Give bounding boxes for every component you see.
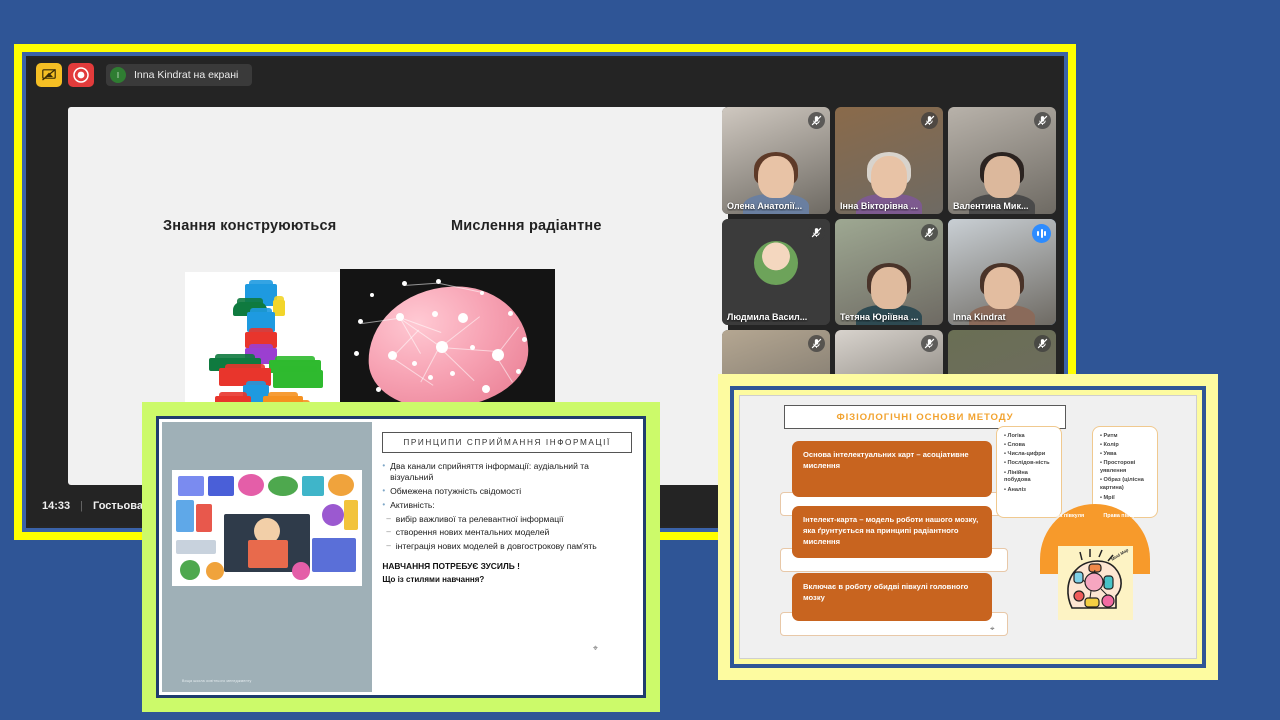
dash-marker-icon: – — [386, 541, 390, 551]
perception-callout-question: Що із стилями навчання? — [382, 575, 632, 584]
mind-map-head-icon: Mind Map — [1058, 546, 1133, 620]
presenter-avatar: I — [110, 67, 126, 83]
record-glyph — [73, 67, 89, 83]
perception-bullet-text: вибір важливої та релевантної інформації — [396, 514, 564, 524]
perception-slide-footer: Вища школа освітнього менеджменту — [182, 679, 252, 683]
perception-slide-inner-frame: Вища школа освітнього менеджменту ПРИНЦИ… — [156, 416, 646, 698]
microphone-muted-icon[interactable] — [808, 112, 825, 129]
screen-share-off-icon[interactable] — [36, 63, 62, 87]
screen-share-off-glyph — [42, 69, 56, 81]
participant-face — [758, 156, 794, 198]
right-hemisphere-item: Ритм — [1100, 433, 1151, 441]
right-hemisphere-label: Права півкуля — [1095, 513, 1150, 521]
right-hemisphere-item: Колір — [1100, 442, 1151, 450]
participant-name: Валентина Мик... — [953, 201, 1051, 211]
participant-name: Людмила Васил... — [727, 312, 825, 322]
perception-slide-title-box: ПРИНЦИПИ СПРИЙМАННЯ ІНФОРМАЦІЇ — [382, 432, 632, 453]
left-hemisphere-item: Логіка — [1004, 433, 1055, 441]
physiology-box-2: Інтелект-карта – модель роботи нашого мо… — [792, 506, 992, 558]
participant-tile[interactable]: Валентина Мик... — [948, 107, 1056, 214]
speaking-indicator-icon — [1032, 224, 1051, 243]
education-collage-photo — [172, 470, 362, 586]
participant-tile[interactable]: Inna Kindrat — [948, 219, 1056, 326]
right-hemisphere-item: Образ (цілісна картина) — [1100, 477, 1151, 493]
perception-bullet-item: •Обмежена потужність свідомості — [382, 486, 632, 496]
participant-name: Тетяна Юріївна ... — [840, 312, 938, 322]
perception-bullet-text: Активність: — [390, 500, 435, 510]
right-hemisphere-item: Уява — [1100, 451, 1151, 459]
right-hemisphere-item: Просторові уявлення — [1100, 460, 1151, 476]
participant-name: Інна Вікторівна ... — [840, 201, 938, 211]
participant-name: Inna Kindrat — [953, 312, 1051, 322]
dash-marker-icon: – — [386, 527, 390, 537]
physiology-slide: ФІЗІОЛОГІЧНІ ОСНОВИ МЕТОДУ Основа інтеле… — [739, 395, 1197, 659]
perception-bullet-item: •Два канали сприйняття інформації: аудіа… — [382, 461, 632, 482]
right-hemisphere-item: Мрії — [1100, 495, 1151, 503]
dash-marker-icon: – — [386, 514, 390, 524]
perception-slide: Вища школа освітнього менеджменту ПРИНЦИ… — [162, 422, 640, 692]
microphone-muted-icon[interactable] — [1034, 112, 1051, 129]
left-hemisphere-item: Слова — [1004, 442, 1055, 450]
microphone-muted-icon[interactable] — [921, 112, 938, 129]
perception-bullet-text: створення нових ментальних моделей — [396, 527, 550, 537]
participant-tile[interactable]: Людмила Васил... — [722, 219, 830, 326]
perception-callout-bold: НАВЧАННЯ ПОТРЕБУЄ ЗУСИЛЬ ! — [382, 561, 632, 571]
mouse-cursor-icon: ⌖ — [593, 643, 598, 654]
participant-tile[interactable]: Тетяна Юріївна ... — [835, 219, 943, 326]
mind-map-head-glyph — [1058, 546, 1133, 620]
right-hemisphere-list: РитмКолірУяваПросторові уявленняОбраз (ц… — [1100, 433, 1151, 502]
slide-title-knowledge: Знання конструюються — [163, 218, 336, 234]
left-hemisphere-list: ЛогікаСловаЧисла-цифриПослідов-ністьЛіні… — [1004, 433, 1055, 495]
avatar — [754, 241, 798, 285]
presenter-label: Inna Kindrat на екрані — [134, 69, 238, 81]
physiology-slide-inner-frame: ФІЗІОЛОГІЧНІ ОСНОВИ МЕТОДУ Основа інтеле… — [730, 386, 1206, 668]
left-hemisphere-item: Послідов-ність — [1004, 460, 1055, 468]
screenshot-canvas: I Inna Kindrat на екрані Знання конструю… — [0, 0, 1280, 720]
left-hemisphere-item: Лінійна побудова — [1004, 470, 1055, 486]
perception-bullet-item: –створення нових ментальних моделей — [382, 527, 632, 537]
meeting-clock: 14:33 — [42, 500, 70, 512]
physiology-box-1: Основа інтелектуальних карт – асоціативн… — [792, 441, 992, 497]
perception-bullet-text: Два канали сприйняття інформації: аудіал… — [390, 461, 632, 482]
physiology-slide-frame: ФІЗІОЛОГІЧНІ ОСНОВИ МЕТОДУ Основа інтеле… — [718, 374, 1218, 680]
participant-tile[interactable]: Олена Анатолії... — [722, 107, 830, 214]
bullet-marker-icon: • — [382, 500, 385, 510]
left-hemisphere-item: Аналіз — [1004, 487, 1055, 495]
perception-slide-right: ПРИНЦИПИ СПРИЙМАННЯ ІНФОРМАЦІЇ •Два кана… — [372, 422, 640, 692]
participant-face — [871, 267, 907, 309]
perception-bullet-item: •Активність: — [382, 500, 632, 510]
physiology-slide-title: ФІЗІОЛОГІЧНІ ОСНОВИ МЕТОДУ — [837, 412, 1014, 423]
presenter-chip[interactable]: I Inna Kindrat на екрані — [106, 64, 252, 86]
left-hemisphere-label: Ліва півкуля — [1040, 513, 1095, 521]
perception-bullet-item: –інтеграція нових моделей в довгостроков… — [382, 541, 632, 551]
perception-bullet-item: –вибір важливої та релевантної інформаці… — [382, 514, 632, 524]
microphone-muted-icon[interactable] — [921, 224, 938, 241]
bullet-marker-icon: • — [382, 461, 385, 482]
perception-bullet-text: інтеграція нових моделей в довгострокову… — [396, 541, 597, 551]
perception-slide-frame: Вища школа освітнього менеджменту ПРИНЦИ… — [142, 402, 660, 712]
microphone-muted-icon[interactable] — [808, 224, 825, 241]
left-hemisphere-item: Числа-цифри — [1004, 451, 1055, 459]
perception-slide-left: Вища школа освітнього менеджменту — [162, 422, 372, 692]
perception-slide-title: ПРИНЦИПИ СПРИЙМАННЯ ІНФОРМАЦІЇ — [389, 437, 625, 448]
mouse-cursor-icon: ⌖ — [990, 624, 995, 634]
participant-tile[interactable]: Інна Вікторівна ... — [835, 107, 943, 214]
participant-face — [984, 267, 1020, 309]
record-icon[interactable] — [68, 63, 94, 87]
meeting-top-toolbar: I Inna Kindrat на екрані — [28, 58, 1062, 92]
physiology-box-3: Включає в роботу обидві півкулі головног… — [792, 573, 992, 621]
bullet-marker-icon: • — [382, 486, 385, 496]
toolbar-divider: | — [80, 500, 83, 512]
perception-bullet-text: Обмежена потужність свідомості — [390, 486, 521, 496]
participant-name: Олена Анатолії... — [727, 201, 825, 211]
perception-bullet-list: •Два канали сприйняття інформації: аудіа… — [382, 461, 632, 552]
slide-title-radiant: Мислення радіантне — [451, 218, 602, 234]
participant-face — [871, 156, 907, 198]
participant-face — [984, 156, 1020, 198]
